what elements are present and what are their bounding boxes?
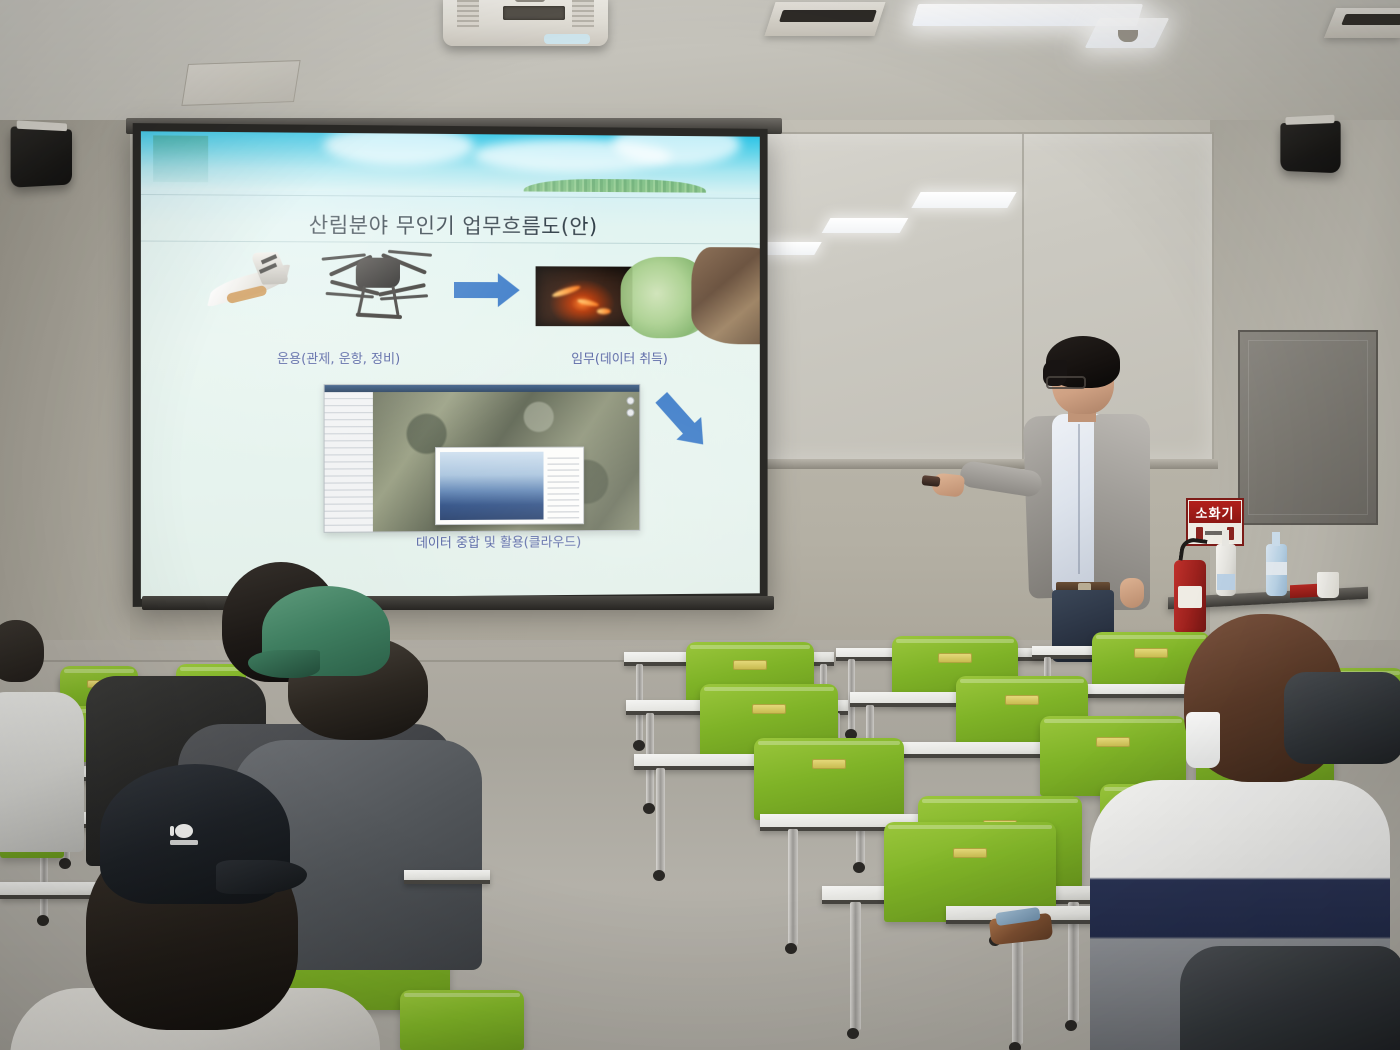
mlb-logo-icon	[164, 822, 186, 840]
chair-label	[733, 660, 767, 670]
projector-mount	[515, 0, 545, 2]
speaker-bracket	[1286, 115, 1335, 125]
person-torso	[0, 692, 84, 852]
projector-lens	[544, 34, 590, 44]
wildfire-night-photo	[536, 266, 633, 326]
face-mask	[1186, 712, 1220, 768]
arrow-down-right-icon	[655, 392, 696, 435]
wall-speaker-right	[1280, 121, 1340, 174]
wall-access-panel	[1238, 330, 1378, 525]
green-baseball-cap	[262, 586, 390, 676]
wall-speaker-left	[11, 126, 72, 187]
eyeglasses-and-case	[990, 912, 1052, 944]
bag-on-chair	[1284, 672, 1400, 764]
projector-vent-left	[457, 0, 479, 30]
gis-popup-photo	[440, 452, 544, 520]
chair-label	[953, 848, 987, 858]
air-conditioner-vent-left	[764, 2, 885, 36]
projection-screen: 산림분야 무인기 업무흐름도(안)	[133, 123, 768, 607]
projector-ports	[503, 6, 565, 20]
slide-title: 산림분야 무인기 업무흐름도(안)	[141, 208, 760, 241]
paper-cup	[1317, 572, 1339, 598]
extinguisher-label	[1178, 586, 1202, 608]
gis-map-controls	[627, 397, 635, 421]
slide-logo-block	[153, 135, 208, 182]
person-head	[0, 620, 44, 682]
chair-label	[938, 653, 972, 663]
gis-popup-metadata	[547, 453, 579, 520]
classroom-scene: 소화기 산림분야 무인기 업무흐름도(안)	[0, 0, 1400, 1050]
desk-leg	[788, 829, 798, 945]
chair-label	[752, 704, 786, 714]
gis-photo-popup	[435, 447, 584, 526]
slide-content: 산림분야 무인기 업무흐름도(안)	[141, 131, 760, 599]
presentation-clicker	[922, 475, 941, 487]
sprinkler-head	[1118, 30, 1138, 42]
slide-caption-operation: 운용(관제, 운항, 정비)	[222, 348, 454, 367]
air-conditioner-vent-right	[1324, 8, 1400, 38]
fixed-wing-uav-icon	[204, 249, 291, 316]
chair-label	[812, 759, 846, 769]
chair-label	[1134, 648, 1168, 658]
gis-layer-panel	[325, 392, 373, 532]
draped-jacket	[1180, 946, 1400, 1050]
presenter-right-hand	[1120, 578, 1144, 608]
chair-label	[1096, 737, 1130, 747]
chair-label	[1005, 695, 1039, 705]
ceiling-diffuser-panel	[181, 60, 300, 106]
slide-caption-mission: 임무(데이터 취득)	[516, 348, 723, 367]
desk-leg	[850, 902, 861, 1030]
desk-leg	[656, 768, 665, 872]
gis-map-application-screenshot	[324, 384, 641, 533]
fire-extinguisher-sign-label: 소화기	[1189, 501, 1241, 523]
aerial-terrain-photo	[691, 247, 759, 344]
slide-caption-data-use: 데이터 중합 및 활용(클라우드)	[354, 531, 642, 552]
whiteboard-glare	[911, 192, 1016, 208]
chair[interactable]	[754, 738, 904, 820]
desk	[404, 870, 490, 884]
whiteboard-glare	[822, 218, 909, 233]
water-bottle	[1266, 544, 1287, 596]
presenter	[1020, 340, 1180, 660]
projector	[443, 0, 608, 46]
chair[interactable]	[400, 990, 524, 1050]
multirotor-drone-icon	[322, 237, 432, 324]
glasses-icon	[1046, 376, 1086, 389]
hand-sanitizer-bottle	[1216, 544, 1236, 596]
arrow-right-icon	[454, 282, 500, 298]
left-wall-panel	[0, 120, 130, 660]
black-mlb-cap	[100, 764, 290, 904]
projector-vent-right	[572, 0, 594, 30]
